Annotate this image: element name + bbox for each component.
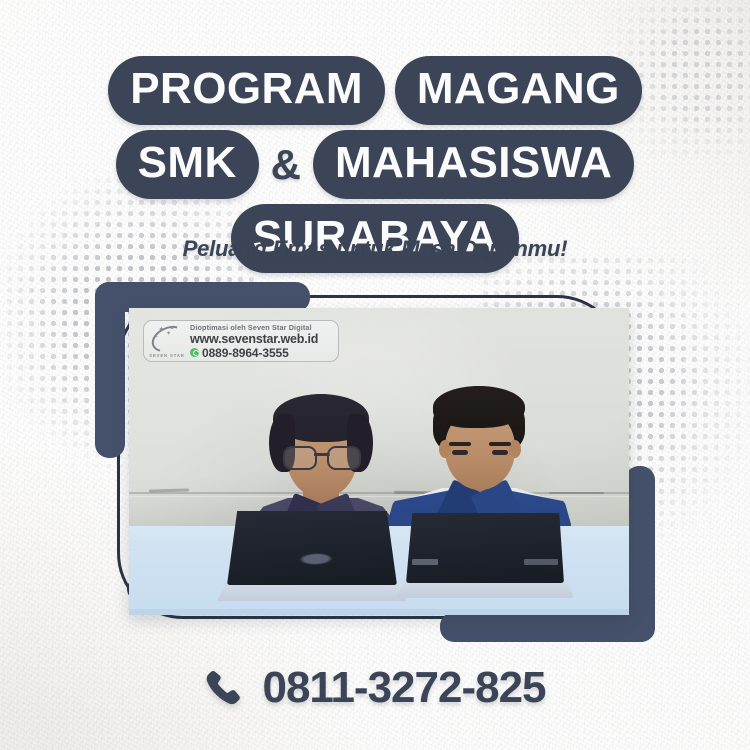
- watermark-text-block: Dioptimasi oleh Seven Star Digital www.s…: [190, 323, 333, 360]
- laptop-right-base: [396, 581, 574, 598]
- laptop-right-brand: [524, 559, 558, 565]
- frame-bar-bottom-right: [440, 612, 655, 642]
- glasses-lens-right: [327, 446, 361, 470]
- photo-frame: ARYO: [95, 282, 655, 642]
- glasses-lens-left: [283, 446, 317, 470]
- photo-laptop-right: [394, 513, 574, 599]
- headline-row-2: SMK & MAHASISWA: [0, 130, 750, 199]
- frame-bar-right: [625, 466, 655, 642]
- poster-canvas: PROGRAM MAGANG SMK & MAHASISWA SURABAYA …: [0, 0, 750, 750]
- seven-star-logo-icon: ✦ ✦ ✦ ✦ SEVEN STAR: [149, 324, 185, 358]
- logo-star-icon: ✦: [154, 333, 158, 341]
- watermark-contact-row: 0889-8964-3555: [190, 346, 333, 360]
- watermark-whatsapp-number: 0889-8964-3555: [202, 346, 289, 360]
- laptop-right-badge: [412, 559, 438, 565]
- laptop-right-lid: [406, 513, 564, 583]
- logo-label: SEVEN STAR: [149, 353, 185, 358]
- phone-handset-icon: [204, 668, 244, 708]
- person-right-hair-fringe: [433, 386, 525, 428]
- headline-pill-smk: SMK: [116, 130, 259, 199]
- photo-laptop-left: [217, 511, 407, 601]
- logo-star-icon: ✦: [170, 325, 174, 333]
- headline-row-1: PROGRAM MAGANG: [0, 56, 750, 125]
- person-right-eye-left: [452, 450, 468, 455]
- watermark-tagline: Dioptimasi oleh Seven Star Digital: [190, 323, 333, 332]
- headline-pill-program: PROGRAM: [108, 56, 385, 125]
- frame-bar-left: [95, 282, 125, 458]
- logo-star-icon: ✦: [158, 326, 165, 334]
- laptop-left-base: [217, 583, 407, 601]
- footer-phone-number[interactable]: 0811-3272-825: [262, 666, 545, 710]
- footer-contact[interactable]: 0811-3272-825: [0, 666, 750, 710]
- person-right-brow-right: [489, 442, 511, 446]
- headline-pill-magang: MAGANG: [395, 56, 642, 125]
- watermark-badge: ✦ ✦ ✦ ✦ SEVEN STAR Dioptimasi oleh Seven…: [143, 320, 339, 362]
- watermark-website: www.sevenstar.web.id: [190, 332, 333, 346]
- headline-pill-mahasiswa: MAHASISWA: [313, 130, 634, 199]
- headline-ampersand: &: [269, 144, 303, 186]
- photo-image: ARYO: [129, 308, 629, 615]
- photo-desk-edge: [129, 609, 629, 615]
- person-right-eye-right: [492, 450, 508, 455]
- person-left-glasses-icon: [283, 446, 361, 466]
- whatsapp-icon: [190, 348, 199, 357]
- tagline: Peluang Emas untuk Masa Depanmu!: [0, 236, 750, 262]
- laptop-left-lid: [227, 511, 397, 585]
- person-right-brow-left: [449, 442, 471, 446]
